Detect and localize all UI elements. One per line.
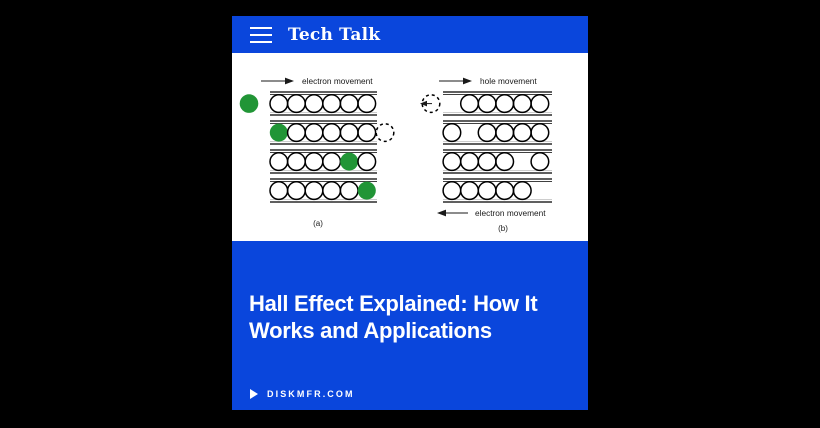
electron-dot bbox=[270, 124, 288, 142]
panel-a-top-arrow-label: electron movement bbox=[302, 76, 373, 86]
electron-dot bbox=[340, 153, 358, 171]
figure-svg: electron movement bbox=[232, 53, 588, 241]
app-title: Tech Talk bbox=[288, 25, 380, 45]
hamburger-bar-3 bbox=[250, 41, 272, 43]
article-body: Hall Effect Explained: How It Works and … bbox=[232, 241, 588, 410]
panel-a-caption: (a) bbox=[313, 219, 323, 228]
article-card: Tech Talk electron movement bbox=[232, 16, 588, 410]
hamburger-bar-2 bbox=[250, 34, 272, 36]
panel-b-bottom-arrow-label: electron movement bbox=[475, 208, 546, 218]
hamburger-menu-icon[interactable] bbox=[250, 27, 272, 43]
hamburger-bar-1 bbox=[250, 27, 272, 29]
screenshot-root: Tech Talk electron movement bbox=[0, 0, 820, 428]
panel-b-top-arrow-label: hole movement bbox=[480, 76, 537, 86]
play-triangle-icon bbox=[250, 389, 258, 399]
semiconductor-conduction-figure: electron movement bbox=[232, 53, 588, 241]
panel-b-caption: (b) bbox=[498, 224, 508, 233]
page-title: Hall Effect Explained: How It Works and … bbox=[249, 290, 561, 344]
electron-dot bbox=[240, 94, 259, 113]
brand-row[interactable]: DISKMFR.COM bbox=[250, 389, 355, 399]
electron-dot bbox=[358, 182, 376, 200]
app-bar: Tech Talk bbox=[232, 16, 588, 53]
brand-label: DISKMFR.COM bbox=[267, 389, 355, 399]
